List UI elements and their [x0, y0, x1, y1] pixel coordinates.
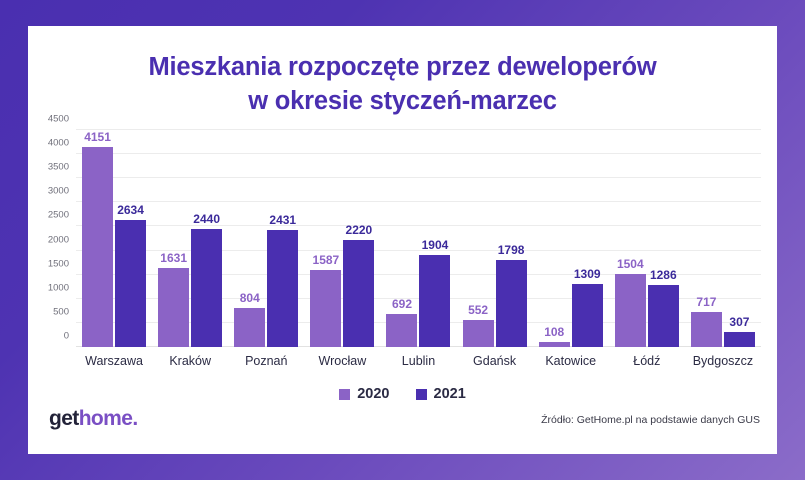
- bar-2021-bydgoszcz[interactable]: [724, 332, 755, 347]
- bar-2021-warszawa[interactable]: [115, 220, 146, 347]
- bar-2021-łódź[interactable]: [648, 285, 679, 347]
- bar-value-label: 717: [696, 295, 716, 309]
- bar-2021-gdańsk[interactable]: [496, 260, 527, 347]
- page-title: Mieszkania rozpoczęte przez deweloperów …: [28, 50, 777, 118]
- bar-wrapper: 108: [539, 342, 570, 347]
- bar-value-label: 1904: [422, 238, 449, 252]
- bar-value-label: 692: [392, 297, 412, 311]
- chart-title-line-1: Mieszkania rozpoczęte przez deweloperów: [28, 50, 777, 84]
- y-axis-tick-label: 3500: [48, 162, 69, 173]
- bar-wrapper: 717: [691, 312, 722, 347]
- bar-value-label: 307: [729, 315, 749, 329]
- bar-2020-lublin[interactable]: [386, 314, 417, 347]
- x-axis-label-poznań: Poznań: [228, 354, 304, 368]
- bar-2020-poznań[interactable]: [234, 308, 265, 347]
- bar-2021-kraków[interactable]: [191, 229, 222, 347]
- bar-wrapper: 307: [724, 332, 755, 347]
- bar-value-label: 108: [544, 325, 564, 339]
- bar-value-label: 2634: [117, 203, 144, 217]
- logo-text-dot: .: [132, 407, 137, 430]
- chart-plot-area: 050010001500200025003000350040004500 415…: [76, 130, 761, 347]
- bar-value-label: 552: [468, 303, 488, 317]
- bar-value-label: 2431: [269, 213, 296, 227]
- bar-wrapper: 552: [463, 320, 494, 347]
- bar-value-label: 1631: [160, 251, 187, 265]
- bar-wrapper: 804: [234, 308, 265, 347]
- x-axis-label-warszawa: Warszawa: [76, 354, 152, 368]
- x-axis-label-łódź: Łódź: [609, 354, 685, 368]
- bar-wrapper: 1309: [572, 284, 603, 347]
- y-axis-tick-label: 4000: [48, 138, 69, 149]
- y-axis-tick-label: 1000: [48, 282, 69, 293]
- y-axis-tick-label: 0: [64, 331, 69, 342]
- infographic-frame: Mieszkania rozpoczęte przez deweloperów …: [0, 0, 805, 480]
- bar-2021-katowice[interactable]: [572, 284, 603, 347]
- bar-wrapper: 2220: [343, 240, 374, 347]
- x-axis-label-bydgoszcz: Bydgoszcz: [685, 354, 761, 368]
- y-axis-tick-label: 4500: [48, 114, 69, 125]
- bar-2020-kraków[interactable]: [158, 268, 189, 347]
- bar-value-label: 1286: [650, 268, 677, 282]
- bar-group: 15041286: [609, 130, 685, 347]
- logo-text-get: get: [49, 407, 79, 430]
- bar-group: 8042431: [228, 130, 304, 347]
- bar-wrapper: 1798: [496, 260, 527, 347]
- bar-2020-bydgoszcz[interactable]: [691, 312, 722, 347]
- bar-group: 6921904: [380, 130, 456, 347]
- bar-2020-łódź[interactable]: [615, 274, 646, 347]
- bar-value-label: 1587: [313, 253, 340, 267]
- y-axis-tick-label: 2500: [48, 210, 69, 221]
- y-axis-tick-label: 3000: [48, 186, 69, 197]
- bar-2020-gdańsk[interactable]: [463, 320, 494, 347]
- bar-wrapper: 2440: [191, 229, 222, 347]
- bar-value-label: 804: [240, 291, 260, 305]
- bar-wrapper: 1904: [419, 255, 450, 347]
- bar-wrapper: 1504: [615, 274, 646, 347]
- bar-group: 16312440: [152, 130, 228, 347]
- bar-wrapper: 1286: [648, 285, 679, 347]
- gethome-logo: gethome.: [49, 407, 138, 431]
- bar-2021-wrocław[interactable]: [343, 240, 374, 347]
- bar-group: 1081309: [533, 130, 609, 347]
- bar-value-label: 1504: [617, 257, 644, 271]
- bar-wrapper: 2431: [267, 230, 298, 347]
- x-axis: WarszawaKrakówPoznańWrocławLublinGdańskK…: [76, 354, 761, 368]
- bar-series-layer: 4151263416312440804243115872220692190455…: [76, 130, 761, 347]
- x-axis-label-kraków: Kraków: [152, 354, 228, 368]
- x-axis-label-wrocław: Wrocław: [304, 354, 380, 368]
- bar-wrapper: 1631: [158, 268, 189, 347]
- bar-2021-lublin[interactable]: [419, 255, 450, 347]
- y-axis-tick-label: 2000: [48, 234, 69, 245]
- x-axis-label-gdańsk: Gdańsk: [457, 354, 533, 368]
- bar-value-label: 1309: [574, 267, 601, 281]
- chart-footer: gethome. Źródło: GetHome.pl na podstawie…: [28, 398, 777, 454]
- bar-wrapper: 2634: [115, 220, 146, 347]
- bar-group: 5521798: [457, 130, 533, 347]
- bar-2021-poznań[interactable]: [267, 230, 298, 347]
- bar-value-label: 2220: [346, 223, 373, 237]
- x-axis-label-katowice: Katowice: [533, 354, 609, 368]
- x-axis-label-lublin: Lublin: [380, 354, 456, 368]
- logo-text-home: home: [79, 407, 133, 430]
- chart-card: Mieszkania rozpoczęte przez deweloperów …: [28, 26, 777, 454]
- bar-group: 717307: [685, 130, 761, 347]
- bar-value-label: 2440: [193, 212, 220, 226]
- bar-value-label: 4151: [84, 130, 111, 144]
- bar-wrapper: 1587: [310, 270, 341, 347]
- y-axis-tick-label: 500: [53, 306, 69, 317]
- chart-title-line-2: w okresie styczeń-marzec: [28, 84, 777, 118]
- bar-2020-warszawa[interactable]: [82, 147, 113, 347]
- bar-wrapper: 4151: [82, 147, 113, 347]
- bar-group: 41512634: [76, 130, 152, 347]
- bar-2020-katowice[interactable]: [539, 342, 570, 347]
- bar-wrapper: 692: [386, 314, 417, 347]
- bar-value-label: 1798: [498, 243, 525, 257]
- bar-group: 15872220: [304, 130, 380, 347]
- source-attribution: Źródło: GetHome.pl na podstawie danych G…: [541, 414, 760, 426]
- y-axis-tick-label: 1500: [48, 258, 69, 269]
- bar-2020-wrocław[interactable]: [310, 270, 341, 347]
